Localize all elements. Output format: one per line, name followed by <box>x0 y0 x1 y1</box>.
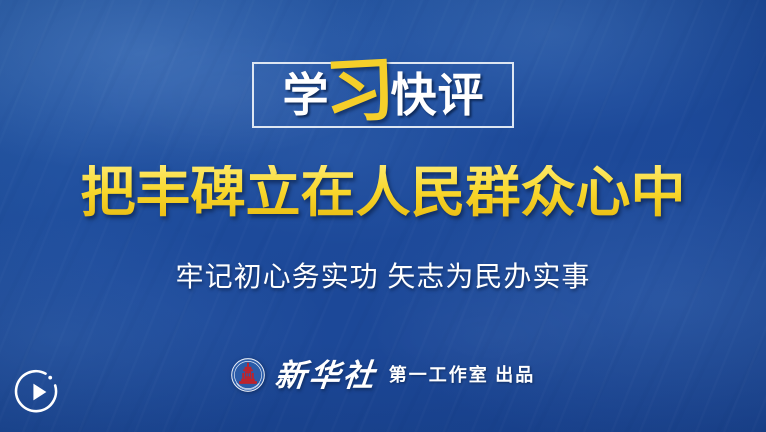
series-title-char-2-highlight: 习 <box>323 56 397 130</box>
series-title-char-1: 学 <box>283 73 329 119</box>
play-circle-icon[interactable] <box>14 368 62 416</box>
subtitle: 牢记初心务实功 矢志为民办实事 <box>0 263 766 291</box>
studio-credit: 第一工作室 出品 <box>389 366 536 384</box>
producer-credit: 新华社 第一工作室 出品 <box>0 358 766 392</box>
series-title-char-4: 评 <box>438 73 484 119</box>
xinhua-wordmark: 新华社 <box>273 360 378 391</box>
xinhua-pagoda-emblem-icon <box>231 358 265 392</box>
headline: 把丰碑立在人民群众心中 <box>0 165 766 220</box>
series-title-text: 学 习 快 评 <box>252 62 514 128</box>
video-poster-frame: 学 习 快 评 把丰碑立在人民群众心中 牢记初心务实功 矢志为民办实事 <box>0 0 766 432</box>
series-title-char-3: 快 <box>391 73 437 119</box>
series-title-block: 学 习 快 评 <box>252 62 514 128</box>
